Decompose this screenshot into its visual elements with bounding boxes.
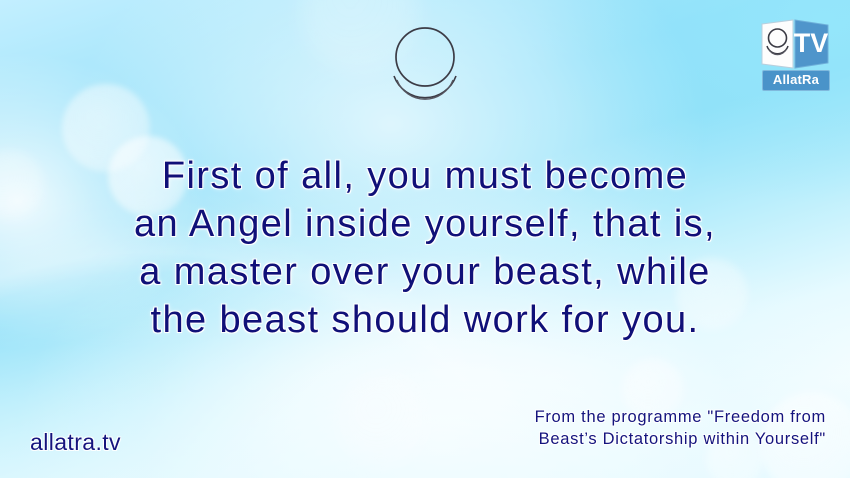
allatra-crescent-inner-icon xyxy=(397,80,453,99)
quote-line-3: a master over your beast, while xyxy=(0,248,850,296)
attribution-line-2: Beast’s Dictatorship within Yourself" xyxy=(535,428,826,450)
bokeh-mid-low xyxy=(336,372,432,468)
quote-line-1: First of all, you must become xyxy=(0,152,850,200)
logo-wordmark: AllatRa xyxy=(762,70,830,91)
quote-line-4: the beast should work for you. xyxy=(0,296,850,344)
quote-block: First of all, you must become an Angel i… xyxy=(0,152,850,344)
allatra-circle-icon xyxy=(396,28,454,86)
allatra-symbol xyxy=(389,24,461,106)
slide-canvas: TV AllatRa First of all, you must become… xyxy=(0,0,850,478)
allatra-tv-logo[interactable]: TV AllatRa xyxy=(752,18,838,94)
attribution-line-1: From the programme "Freedom from xyxy=(535,406,826,428)
attribution-block: From the programme "Freedom from Beast’s… xyxy=(535,406,826,450)
quote-line-2: an Angel inside yourself, that is, xyxy=(0,200,850,248)
logo-box-icon: TV xyxy=(752,18,838,70)
site-url[interactable]: allatra.tv xyxy=(30,429,121,456)
logo-left-face xyxy=(762,20,793,68)
logo-tv-text: TV xyxy=(794,28,829,58)
